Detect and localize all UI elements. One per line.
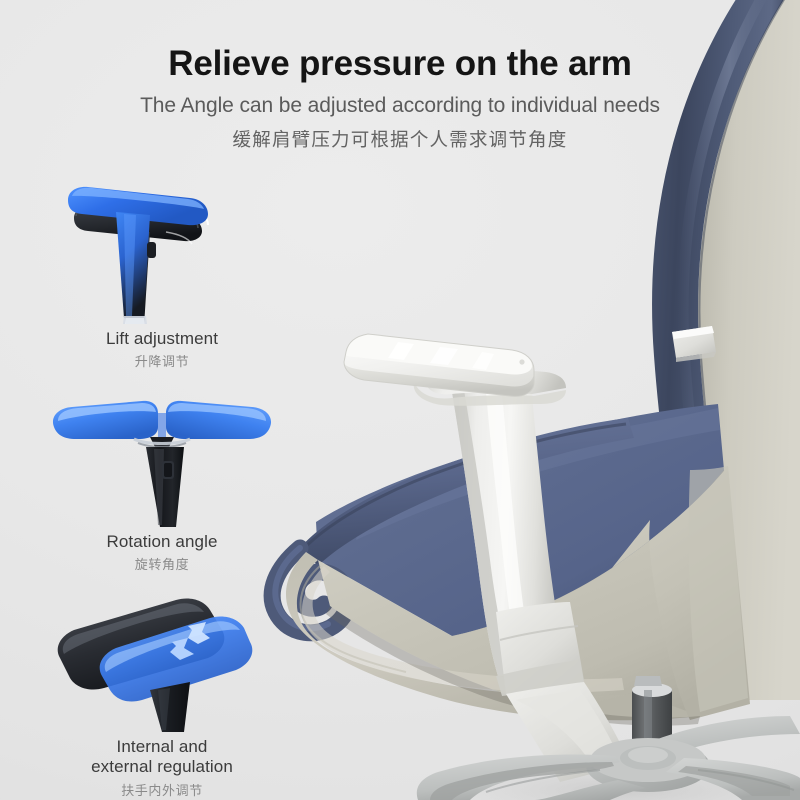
feature-label-zh: 升降调节 [38,349,286,371]
subtitle-chinese: 缓解肩臂压力可根据个人需求调节角度 [0,118,800,150]
armrest-rotation-icon [38,387,286,532]
feature-label-en-line2: external regulation [38,757,286,777]
armrest-width-icon [38,592,286,737]
product-feature-image: Relieve pressure on the arm The Angle ca… [0,0,800,800]
armrest-lift-icon [38,176,286,329]
feature-label-en: Lift adjustment [38,329,286,349]
feature-internal-external-regulation: Internal and external regulation 扶手内外调节 [38,592,286,799]
feature-label-en-line1: Internal and [38,737,286,757]
feature-lift-adjustment: Lift adjustment 升降调节 [38,176,286,371]
feature-label-zh: 扶手内外调节 [38,778,286,800]
feature-label-en: Rotation angle [38,532,286,552]
subtitle-english: The Angle can be adjusted according to i… [0,83,800,118]
feature-rotation-angle: Rotation angle 旋转角度 [38,387,286,574]
page-title: Relieve pressure on the arm [0,0,800,83]
feature-label-zh: 旋转角度 [38,552,286,574]
header-text-block: Relieve pressure on the arm The Angle ca… [0,0,800,151]
feature-list: Lift adjustment 升降调节 [38,176,286,799]
